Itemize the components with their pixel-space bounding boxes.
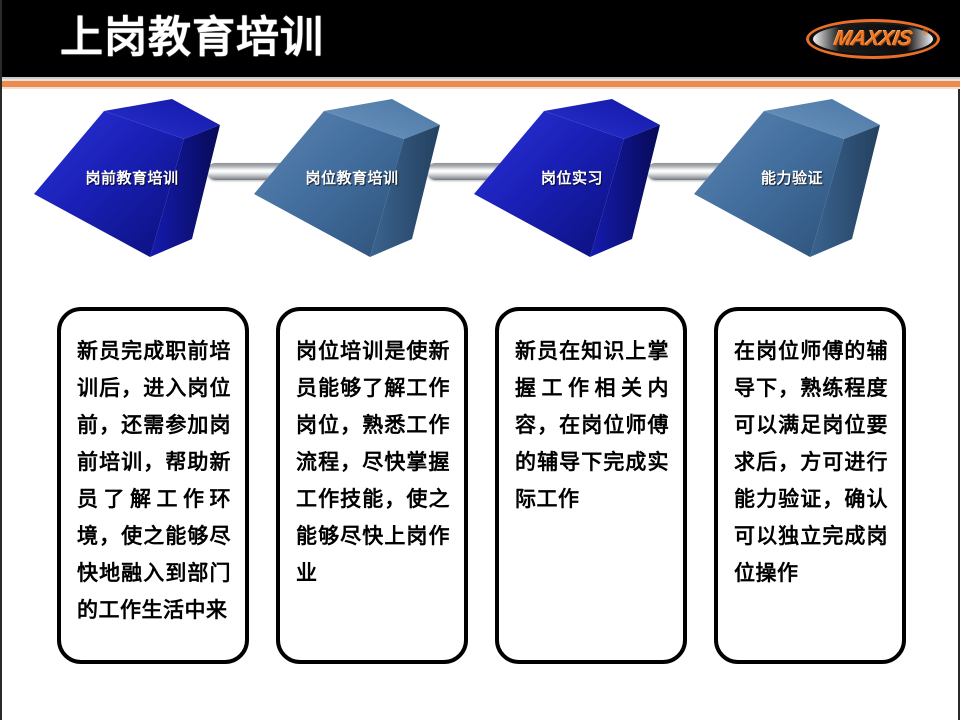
process-step-2[interactable]: 岗位教育培训 xyxy=(252,99,452,284)
description-card-4[interactable]: 在岗位师傅的辅导下，熟练程度可以满足岗位要求后，方可进行能力验证，确认可以独立完… xyxy=(714,307,906,664)
description-card-3-text: 新员在知识上掌握工作相关内容，在岗位师傅的辅导下完成实际工作 xyxy=(515,333,669,518)
slide-header: 上岗教育培训 MAXXIS ® xyxy=(2,0,960,77)
registered-mark-icon: ® xyxy=(922,28,928,37)
description-card-1-text: 新员完成职前培训后，进入岗位前，还需参加岗前培训，帮助新员了解工作环境，使之能够… xyxy=(77,333,231,629)
cube-shape-4 xyxy=(692,99,892,284)
description-card-2-text: 岗位培训是使新员能够了解工作岗位，熟悉工作流程，尽快掌握工作技能，使之能够尽快上… xyxy=(296,333,450,592)
description-card-2[interactable]: 岗位培训是使新员能够了解工作岗位，熟悉工作流程，尽快掌握工作技能，使之能够尽快上… xyxy=(276,307,468,664)
process-chain: 岗前教育培训 岗位教 xyxy=(2,91,960,296)
process-step-3[interactable]: 岗位实习 xyxy=(472,99,672,284)
process-step-1[interactable]: 岗前教育培训 xyxy=(32,99,232,284)
cube-shape-1 xyxy=(32,99,232,284)
divider-line-light xyxy=(2,87,960,89)
cube-shape-3 xyxy=(472,99,672,284)
page-title: 上岗教育培训 xyxy=(60,9,324,67)
maxxis-logo: MAXXIS ® xyxy=(806,19,940,59)
process-step-4[interactable]: 能力验证 xyxy=(692,99,892,284)
cube-shape-2 xyxy=(252,99,452,284)
description-card-3[interactable]: 新员在知识上掌握工作相关内容，在岗位师傅的辅导下完成实际工作 xyxy=(495,307,687,664)
description-card-4-text: 在岗位师傅的辅导下，熟练程度可以满足岗位要求后，方可进行能力验证，确认可以独立完… xyxy=(734,333,888,592)
description-card-1[interactable]: 新员完成职前培训后，进入岗位前，还需参加岗前培训，帮助新员了解工作环境，使之能够… xyxy=(57,307,249,664)
header-divider xyxy=(2,77,960,91)
